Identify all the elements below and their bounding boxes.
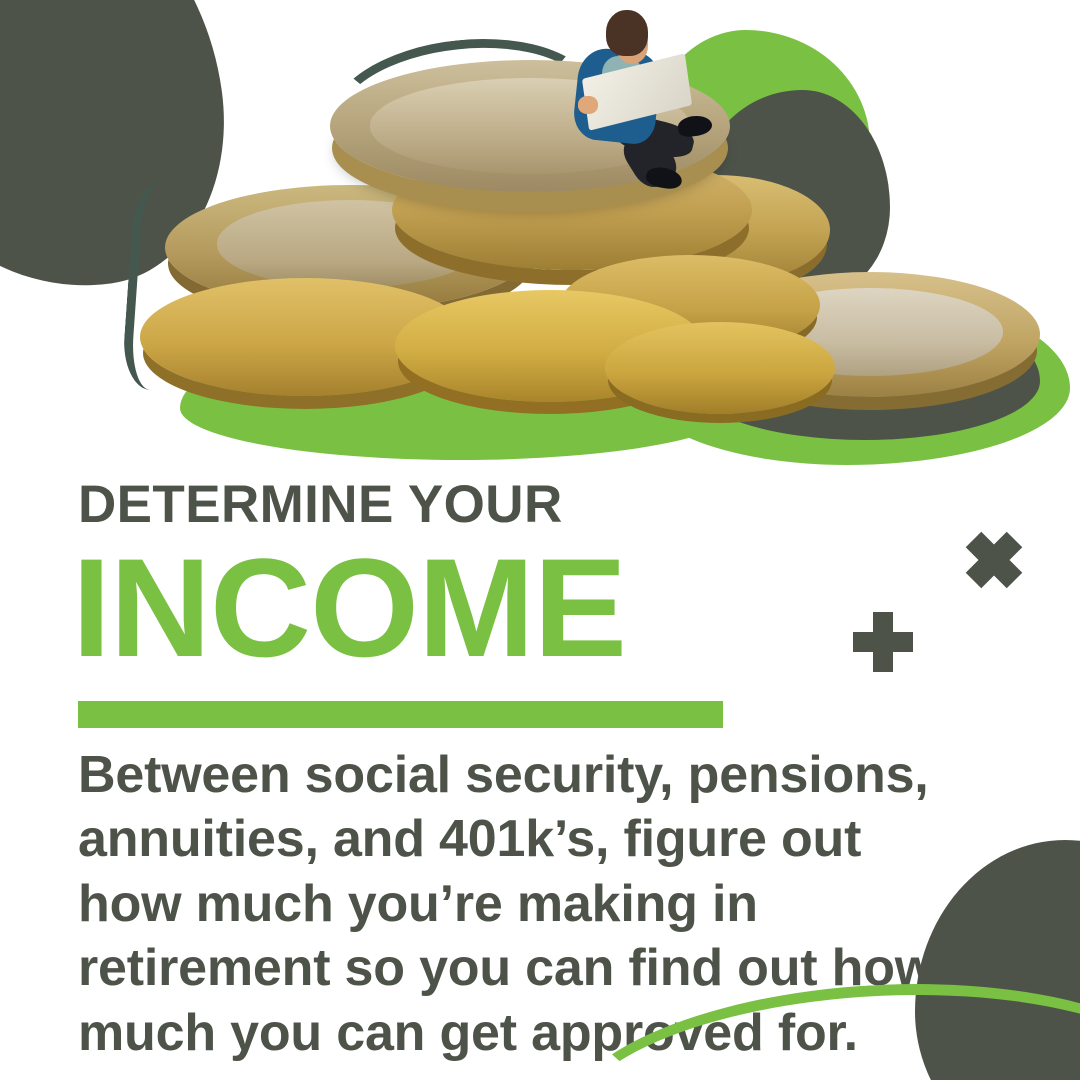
headline-text: INCOME xyxy=(72,538,626,678)
x-mark-icon xyxy=(967,533,1021,587)
coin-photo xyxy=(0,0,1080,470)
figurine xyxy=(560,8,710,188)
figurine-shoe-right xyxy=(677,114,713,139)
coin-bottom-center xyxy=(605,322,835,414)
eyebrow-text: DETERMINE YOUR xyxy=(78,478,563,531)
figurine-hair xyxy=(606,10,648,56)
infographic-card: DETERMINE YOUR INCOME Between social sec… xyxy=(0,0,1080,1080)
green-underline-bar xyxy=(78,701,723,728)
plus-mark-icon xyxy=(853,612,913,672)
figurine-hand xyxy=(578,96,598,114)
